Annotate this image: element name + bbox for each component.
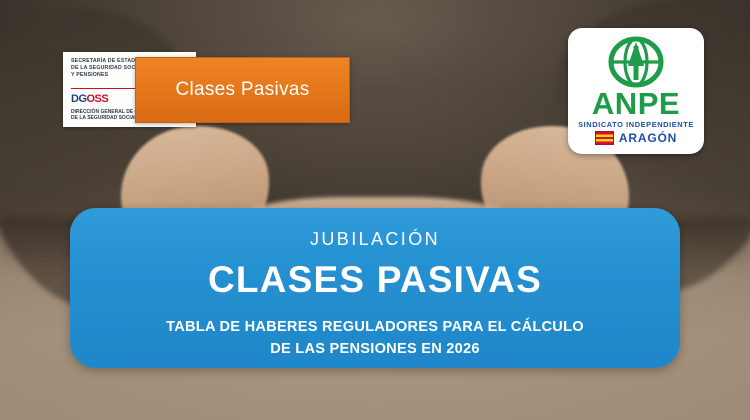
headline-panel: JUBILACIÓN CLASES PASIVAS TABLA DE HABER… bbox=[70, 208, 680, 368]
seal-acronym-suffix: OSS bbox=[87, 93, 109, 105]
globe-icon bbox=[608, 36, 664, 93]
anpe-name: ANPE bbox=[568, 88, 704, 119]
anpe-region-label: ARAGÓN bbox=[619, 131, 677, 145]
seal-acronym-prefix: DG bbox=[71, 93, 87, 105]
panel-headline: CLASES PASIVAS bbox=[70, 259, 680, 301]
anpe-region-row: ARAGÓN bbox=[568, 131, 704, 145]
anpe-tagline: SINDICATO INDEPENDIENTE bbox=[568, 120, 704, 129]
anpe-logo-card: ANPE SINDICATO INDEPENDIENTE ARAGÓN bbox=[568, 28, 704, 154]
panel-subline-line2: DE LAS PENSIONES EN 2026 bbox=[70, 338, 680, 360]
aragon-flag-icon bbox=[595, 131, 614, 145]
clases-pasivas-banner: Clases Pasivas bbox=[135, 57, 350, 123]
panel-subline: TABLA DE HABERES REGULADORES PARA EL CÁL… bbox=[70, 316, 680, 360]
promo-banner-image: SECRETARÍA DE ESTADO DE LA SEGURIDAD SOC… bbox=[0, 0, 750, 420]
banner-label: Clases Pasivas bbox=[175, 79, 309, 101]
panel-kicker: JUBILACIÓN bbox=[70, 229, 680, 250]
panel-subline-line1: TABLA DE HABERES REGULADORES PARA EL CÁL… bbox=[70, 316, 680, 338]
seal-acronym: DGOSS bbox=[71, 93, 108, 105]
